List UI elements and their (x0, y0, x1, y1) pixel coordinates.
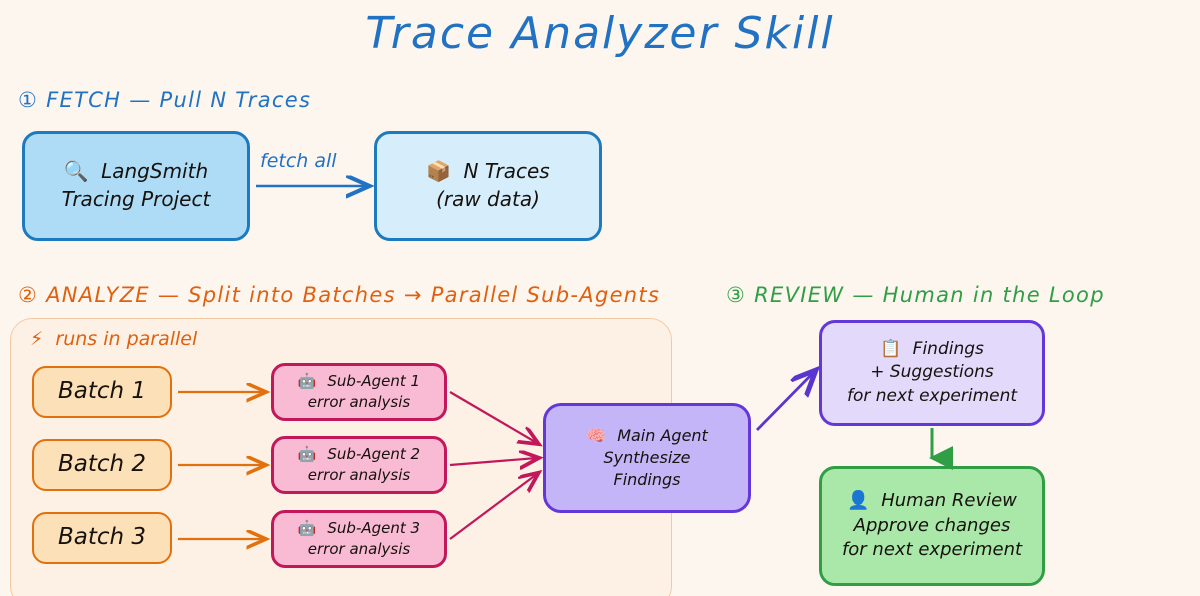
node-sub-agent-3-line1: Sub-Agent 3 (327, 519, 420, 537)
node-n-traces-line1-row: 📦 N Traces (426, 158, 549, 186)
node-batch-2[interactable]: Batch 2 (32, 439, 172, 491)
node-sub-agent-3-line2: error analysis (308, 539, 410, 560)
node-batch-3-label: Batch 3 (58, 522, 146, 554)
node-batch-1[interactable]: Batch 1 (32, 366, 172, 418)
section-label-analyze: ANALYZE — Split into Batches → Parallel … (46, 283, 660, 307)
node-sub-agent-2-line1: Sub-Agent 2 (327, 445, 420, 463)
node-main-agent[interactable]: 🧠 Main Agent Synthesize Findings (543, 403, 751, 513)
clipboard-icon: 📋 (880, 339, 901, 359)
node-n-traces-line1: N Traces (464, 159, 550, 183)
node-main-agent-line1-row: 🧠 Main Agent (586, 425, 708, 447)
robot-icon: 🤖 (298, 372, 317, 390)
node-langsmith-line1: LangSmith (101, 159, 208, 183)
node-main-agent-line3: Findings (613, 469, 680, 491)
page-title: Trace Analyzer Skill (0, 8, 1200, 59)
section-number-analyze: ② (18, 283, 38, 307)
section-label-fetch: FETCH — Pull N Traces (46, 88, 311, 112)
node-sub-agent-1-line1-row: 🤖 Sub-Agent 1 (298, 371, 420, 392)
node-findings-suggestions[interactable]: 📋 Findings + Suggestions for next experi… (819, 320, 1045, 426)
edge-label-fetch-all: fetch all (260, 150, 337, 172)
node-human-review[interactable]: 👤 Human Review Approve changes for next … (819, 466, 1045, 586)
node-findings-line1: Findings (913, 339, 984, 359)
node-human-review-line1-row: 👤 Human Review (847, 489, 1017, 514)
node-human-review-line3: for next experiment (842, 538, 1022, 563)
node-main-agent-line1: Main Agent (617, 426, 708, 445)
node-sub-agent-1-line2: error analysis (308, 392, 410, 413)
section-header-review: ③ REVIEW — Human in the Loop (726, 283, 1105, 307)
lightning-bolt-icon: ⚡ (30, 328, 43, 350)
node-batch-3[interactable]: Batch 3 (32, 512, 172, 564)
node-findings-line1-row: 📋 Findings (880, 338, 984, 361)
node-langsmith-line1-row: 🔍 LangSmith (64, 158, 208, 186)
node-sub-agent-3[interactable]: 🤖 Sub-Agent 3 error analysis (271, 510, 447, 568)
diagram-canvas: Trace Analyzer Skill ① FETCH — Pull N Tr… (0, 0, 1200, 596)
node-batch-2-label: Batch 2 (58, 449, 146, 481)
node-sub-agent-2-line2: error analysis (308, 465, 410, 486)
node-langsmith-line2: Tracing Project (62, 186, 211, 214)
node-sub-agent-1-line1: Sub-Agent 1 (327, 372, 420, 390)
magnifier-icon: 🔍 (64, 159, 89, 183)
node-sub-agent-1[interactable]: 🤖 Sub-Agent 1 error analysis (271, 363, 447, 421)
node-batch-1-label: Batch 1 (58, 376, 146, 408)
arrow-main-agent-to-findings (757, 372, 814, 430)
node-main-agent-line2: Synthesize (603, 447, 690, 469)
node-langsmith-tracing-project[interactable]: 🔍 LangSmith Tracing Project (22, 131, 250, 241)
person-icon: 👤 (847, 490, 869, 511)
section-label-review: REVIEW — Human in the Loop (754, 283, 1105, 307)
node-sub-agent-3-line1-row: 🤖 Sub-Agent 3 (298, 518, 420, 539)
section-header-fetch: ① FETCH — Pull N Traces (18, 88, 311, 112)
robot-icon: 🤖 (298, 519, 317, 537)
package-icon: 📦 (426, 159, 451, 183)
node-human-review-line2: Approve changes (854, 514, 1011, 539)
section-number-review: ③ (726, 283, 746, 307)
node-sub-agent-2[interactable]: 🤖 Sub-Agent 2 error analysis (271, 436, 447, 494)
parallel-note-text: runs in parallel (55, 328, 197, 350)
robot-icon: 🤖 (298, 445, 317, 463)
section-number-fetch: ① (18, 88, 38, 112)
node-findings-line3: for next experiment (847, 385, 1017, 408)
node-human-review-line1: Human Review (881, 490, 1017, 511)
node-findings-line2: + Suggestions (870, 361, 994, 384)
node-n-traces[interactable]: 📦 N Traces (raw data) (374, 131, 602, 241)
node-n-traces-line2: (raw data) (436, 186, 540, 214)
brain-icon: 🧠 (586, 426, 606, 445)
node-sub-agent-2-line1-row: 🤖 Sub-Agent 2 (298, 444, 420, 465)
parallel-note: ⚡ runs in parallel (30, 328, 197, 350)
section-header-analyze: ② ANALYZE — Split into Batches → Paralle… (18, 283, 660, 307)
